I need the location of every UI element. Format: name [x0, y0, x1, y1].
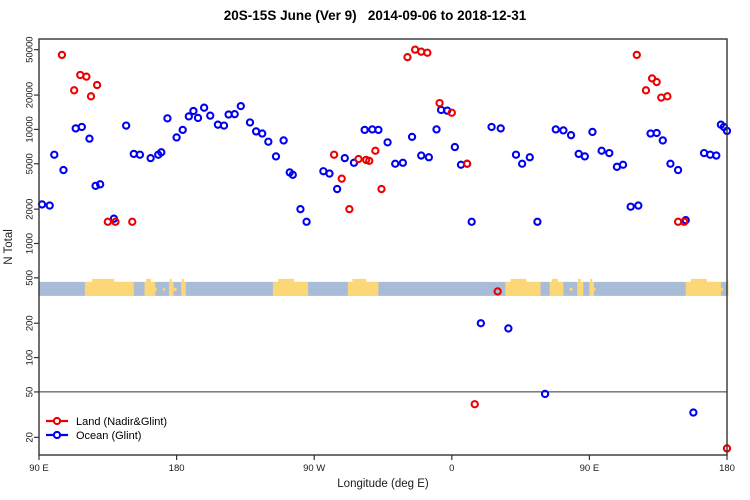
y-tick-label: 10000: [25, 116, 36, 142]
x-tick-label: 90 W: [303, 463, 325, 474]
data-point: [259, 130, 265, 136]
data-point: [71, 87, 77, 93]
map-land-speckle: [580, 288, 582, 291]
map-land-segment: [686, 282, 721, 296]
data-point: [542, 391, 548, 397]
map-land-segment: [85, 282, 134, 296]
data-point: [436, 100, 442, 106]
data-point: [60, 167, 66, 173]
map-land-speckle: [174, 288, 177, 291]
x-tick-label: 90 E: [29, 463, 49, 474]
y-tick-label: 20000: [25, 82, 36, 108]
x-tick-label: 0: [449, 463, 454, 474]
data-point: [469, 219, 475, 225]
x-tick-label: 180: [169, 463, 185, 474]
map-land-peak: [278, 279, 294, 282]
y-tick-label: 50000: [25, 36, 36, 62]
y-tick-label: 1000: [25, 233, 36, 254]
data-point: [232, 111, 238, 117]
data-point: [372, 148, 378, 154]
map-land-peak: [92, 279, 114, 282]
y-tick-label: 500: [25, 270, 36, 286]
y-axis-ticks: 2050100200500100020005000100002000050000: [25, 36, 39, 442]
y-tick-label: 2000: [25, 199, 36, 220]
map-land-segment: [348, 282, 379, 296]
data-point: [326, 170, 332, 176]
map-land-speckle: [375, 288, 377, 291]
x-tick-label: 180: [719, 463, 735, 474]
data-point: [505, 325, 511, 331]
land-ocean-map-strip: [39, 279, 729, 296]
data-point: [362, 127, 368, 133]
data-point: [378, 186, 384, 192]
data-point: [628, 204, 634, 210]
map-land-speckle: [592, 288, 595, 291]
data-point: [51, 152, 57, 158]
legend: Land (Nadir&Glint)Ocean (Glint): [46, 416, 167, 442]
data-point: [634, 52, 640, 58]
data-point: [273, 153, 279, 159]
map-land-peak: [182, 279, 184, 282]
legend-marker-circle: [54, 432, 60, 438]
legend-marker-circle: [54, 418, 60, 424]
data-point: [79, 124, 85, 130]
data-point: [654, 79, 660, 85]
map-land-peak: [691, 279, 707, 282]
map-land-speckle: [163, 288, 165, 291]
data-point: [660, 137, 666, 143]
data-point: [599, 148, 605, 154]
y-tick-label: 100: [25, 350, 36, 366]
data-point: [472, 401, 478, 407]
data-point: [560, 127, 566, 133]
data-point: [303, 219, 309, 225]
map-land-peak: [146, 279, 151, 282]
frame-rect: [39, 39, 727, 455]
map-land-segment: [550, 282, 564, 296]
data-point: [331, 152, 337, 158]
map-land-segment: [273, 282, 308, 296]
map-land-peak: [511, 279, 527, 282]
data-point: [392, 161, 398, 167]
data-point: [238, 103, 244, 109]
map-land-segment: [169, 282, 174, 296]
map-ocean-background: [39, 282, 727, 296]
data-point: [664, 93, 670, 99]
map-land-segment: [505, 282, 540, 296]
data-point: [478, 320, 484, 326]
data-point: [424, 50, 430, 56]
data-point: [635, 202, 641, 208]
data-point: [449, 110, 455, 116]
data-point: [195, 115, 201, 121]
data-point: [281, 137, 287, 143]
data-point: [654, 130, 660, 136]
data-point: [409, 134, 415, 140]
data-point: [346, 206, 352, 212]
data-point: [190, 108, 196, 114]
chart-page: 20S-15S June (Ver 9) 2014-09-06 to 2018-…: [0, 0, 750, 500]
legend-label-1: Ocean (Glint): [76, 430, 141, 442]
data-point: [643, 87, 649, 93]
legend-label-0: Land (Nadir&Glint): [76, 416, 167, 428]
data-point: [88, 93, 94, 99]
data-point: [47, 202, 53, 208]
data-point: [339, 176, 345, 182]
data-point: [452, 144, 458, 150]
data-point: [94, 82, 100, 88]
data-point: [713, 152, 719, 158]
data-point: [568, 132, 574, 138]
y-tick-label: 200: [25, 315, 36, 331]
map-land-segment: [144, 282, 155, 296]
data-point: [83, 74, 89, 80]
data-point: [39, 201, 45, 207]
data-point: [433, 126, 439, 132]
data-point: [384, 139, 390, 145]
data-point: [201, 105, 207, 111]
data-point: [418, 152, 424, 158]
data-point: [400, 160, 406, 166]
data-point: [105, 219, 111, 225]
data-point: [148, 155, 154, 161]
map-land-speckle: [721, 288, 723, 291]
map-land-peak: [552, 279, 558, 282]
data-point: [426, 154, 432, 160]
data-point: [464, 161, 470, 167]
data-point: [498, 125, 504, 131]
data-point: [667, 161, 673, 167]
map-land-speckle: [154, 288, 157, 291]
data-point: [265, 139, 271, 145]
x-axis-ticks: 90 E18090 W090 E180: [29, 455, 735, 474]
x-tick-label: 90 E: [580, 463, 600, 474]
map-land-peak: [590, 279, 592, 282]
y-axis-label: N Total: [3, 229, 15, 265]
data-point: [297, 206, 303, 212]
data-point: [606, 150, 612, 156]
scatter-plot: 2050100200500100020005000100002000050000…: [0, 0, 750, 500]
data-point: [675, 167, 681, 173]
data-point: [86, 136, 92, 142]
data-point: [59, 52, 65, 58]
data-point: [582, 153, 588, 159]
data-point: [123, 122, 129, 128]
data-point: [180, 127, 186, 133]
data-point: [334, 186, 340, 192]
data-point: [534, 219, 540, 225]
data-point: [488, 124, 494, 130]
data-point: [97, 181, 103, 187]
plot-frame: [39, 39, 727, 455]
data-point: [355, 156, 361, 162]
data-point: [375, 127, 381, 133]
data-point: [527, 154, 533, 160]
map-land-speckle: [570, 288, 573, 291]
data-point: [342, 155, 348, 161]
map-land-segment: [181, 282, 186, 296]
data-point: [247, 119, 253, 125]
data-point: [589, 129, 595, 135]
data-point: [137, 152, 143, 158]
y-tick-label: 50: [25, 387, 36, 398]
data-point: [553, 126, 559, 132]
data-point: [207, 113, 213, 119]
y-tick-label: 20: [25, 432, 36, 443]
data-point: [513, 152, 519, 158]
data-point: [174, 134, 180, 140]
data-point: [221, 122, 227, 128]
map-land-peak: [352, 279, 366, 282]
map-land-peak: [578, 279, 581, 282]
data-point: [164, 115, 170, 121]
data-point: [519, 161, 525, 167]
y-tick-label: 5000: [25, 153, 36, 174]
data-points-group: [39, 47, 730, 452]
data-point: [690, 409, 696, 415]
data-point: [404, 54, 410, 60]
map-land-peak: [170, 279, 172, 282]
map-land-speckle: [712, 288, 715, 291]
data-point: [129, 219, 135, 225]
data-point: [620, 162, 626, 168]
x-axis-label: Longitude (deg E): [337, 478, 429, 490]
